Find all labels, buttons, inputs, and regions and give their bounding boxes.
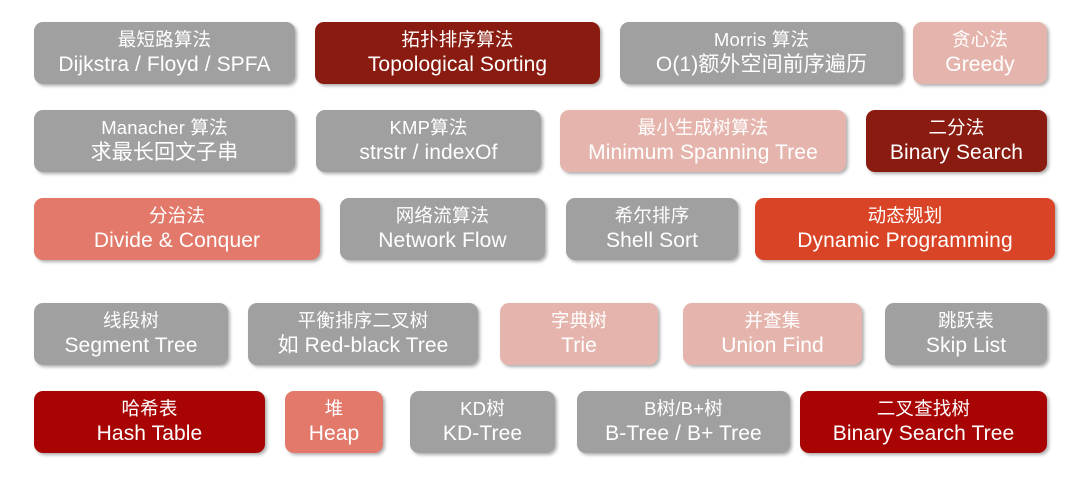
chip-network-flow-label-en: Network Flow: [378, 229, 506, 253]
chip-b-tree-label-en: B-Tree / B+ Tree: [605, 422, 762, 446]
row-datastructures-1: 线段树Segment Tree平衡排序二叉树如 Red-black Tree字典…: [0, 303, 1080, 365]
chip-skip-list-label-en: Skip List: [926, 334, 1006, 358]
chip-balanced-bst[interactable]: 平衡排序二叉树如 Red-black Tree: [248, 303, 478, 365]
chip-manacher[interactable]: Manacher 算法求最长回文子串: [34, 110, 295, 172]
chip-shortest-path-label-en: Dijkstra / Floyd / SPFA: [58, 53, 270, 77]
chip-dynamic-programming-label-en: Dynamic Programming: [797, 229, 1012, 253]
chip-manacher-label-cn: Manacher 算法: [101, 117, 228, 138]
chip-morris-label-cn: Morris 算法: [714, 29, 809, 50]
chip-union-find[interactable]: 并查集Union Find: [683, 303, 862, 365]
chip-binary-search-tree[interactable]: 二叉查找树Binary Search Tree: [800, 391, 1047, 453]
chip-shortest-path-label-cn: 最短路算法: [118, 29, 212, 50]
chip-heap-label-cn: 堆: [325, 398, 344, 419]
chip-balanced-bst-label-cn: 平衡排序二叉树: [298, 310, 429, 331]
chip-binary-search-tree-label-cn: 二叉查找树: [877, 398, 971, 419]
chip-hash-table-label-cn: 哈希表: [121, 398, 177, 419]
chip-topological-sorting[interactable]: 拓扑排序算法Topological Sorting: [315, 22, 600, 84]
chip-dynamic-programming[interactable]: 动态规划Dynamic Programming: [755, 198, 1055, 260]
chip-hash-table-label-en: Hash Table: [97, 422, 203, 446]
chip-divide-and-conquer[interactable]: 分治法Divide & Conquer: [34, 198, 320, 260]
chip-shell-sort-label-cn: 希尔排序: [615, 205, 690, 226]
chip-shell-sort-label-en: Shell Sort: [606, 229, 698, 253]
chip-union-find-label-cn: 并查集: [744, 310, 800, 331]
chip-divide-and-conquer-label-en: Divide & Conquer: [94, 229, 260, 253]
chip-network-flow[interactable]: 网络流算法Network Flow: [340, 198, 545, 260]
chip-morris-label-en: O(1)额外空间前序遍历: [656, 53, 867, 77]
row-algorithms-2: Manacher 算法求最长回文子串KMP算法strstr / indexOf最…: [0, 110, 1080, 172]
chip-network-flow-label-cn: 网络流算法: [396, 205, 490, 226]
chip-trie-label-cn: 字典树: [551, 310, 607, 331]
chip-minimum-spanning-tree-label-en: Minimum Spanning Tree: [588, 141, 818, 165]
chip-divide-and-conquer-label-cn: 分治法: [149, 205, 205, 226]
chip-morris[interactable]: Morris 算法O(1)额外空间前序遍历: [620, 22, 903, 84]
chip-binary-search-label-cn: 二分法: [928, 117, 984, 138]
chip-balanced-bst-label-en: 如 Red-black Tree: [278, 334, 449, 358]
chip-greedy-label-cn: 贪心法: [952, 29, 1008, 50]
chip-hash-table[interactable]: 哈希表Hash Table: [34, 391, 265, 453]
chip-trie-label-en: Trie: [561, 334, 597, 358]
chip-kd-tree-label-en: KD-Tree: [443, 422, 522, 446]
chip-binary-search[interactable]: 二分法Binary Search: [866, 110, 1047, 172]
chip-kmp[interactable]: KMP算法strstr / indexOf: [316, 110, 541, 172]
algorithm-chip-board: 最短路算法Dijkstra / Floyd / SPFA拓扑排序算法Topolo…: [0, 0, 1080, 482]
chip-segment-tree[interactable]: 线段树Segment Tree: [34, 303, 228, 365]
chip-segment-tree-label-cn: 线段树: [103, 310, 159, 331]
chip-kmp-label-en: strstr / indexOf: [359, 141, 497, 165]
chip-kd-tree[interactable]: KD树KD-Tree: [410, 391, 555, 453]
row-algorithms-1: 最短路算法Dijkstra / Floyd / SPFA拓扑排序算法Topolo…: [0, 22, 1080, 84]
row-algorithms-3: 分治法Divide & Conquer网络流算法Network Flow希尔排序…: [0, 198, 1080, 260]
chip-skip-list-label-cn: 跳跃表: [938, 310, 994, 331]
chip-kmp-label-cn: KMP算法: [389, 117, 467, 138]
chip-b-tree[interactable]: B树/B+树B-Tree / B+ Tree: [577, 391, 790, 453]
row-datastructures-2: 哈希表Hash Table堆HeapKD树KD-TreeB树/B+树B-Tree…: [0, 391, 1080, 453]
chip-binary-search-label-en: Binary Search: [890, 141, 1023, 165]
chip-minimum-spanning-tree[interactable]: 最小生成树算法Minimum Spanning Tree: [560, 110, 846, 172]
chip-topological-sorting-label-cn: 拓扑排序算法: [401, 29, 513, 50]
chip-kd-tree-label-cn: KD树: [460, 398, 505, 419]
chip-dynamic-programming-label-cn: 动态规划: [868, 205, 943, 226]
chip-segment-tree-label-en: Segment Tree: [64, 334, 197, 358]
chip-trie[interactable]: 字典树Trie: [500, 303, 658, 365]
chip-union-find-label-en: Union Find: [721, 334, 824, 358]
chip-b-tree-label-cn: B树/B+树: [644, 398, 723, 419]
chip-shell-sort[interactable]: 希尔排序Shell Sort: [566, 198, 738, 260]
chip-heap[interactable]: 堆Heap: [285, 391, 383, 453]
chip-binary-search-tree-label-en: Binary Search Tree: [833, 422, 1015, 446]
chip-minimum-spanning-tree-label-cn: 最小生成树算法: [638, 117, 769, 138]
chip-manacher-label-en: 求最长回文子串: [91, 141, 239, 165]
chip-greedy-label-en: Greedy: [945, 53, 1014, 77]
chip-heap-label-en: Heap: [309, 422, 360, 446]
chip-topological-sorting-label-en: Topological Sorting: [368, 53, 547, 77]
chip-greedy[interactable]: 贪心法Greedy: [913, 22, 1047, 84]
chip-shortest-path[interactable]: 最短路算法Dijkstra / Floyd / SPFA: [34, 22, 295, 84]
chip-skip-list[interactable]: 跳跃表Skip List: [885, 303, 1047, 365]
